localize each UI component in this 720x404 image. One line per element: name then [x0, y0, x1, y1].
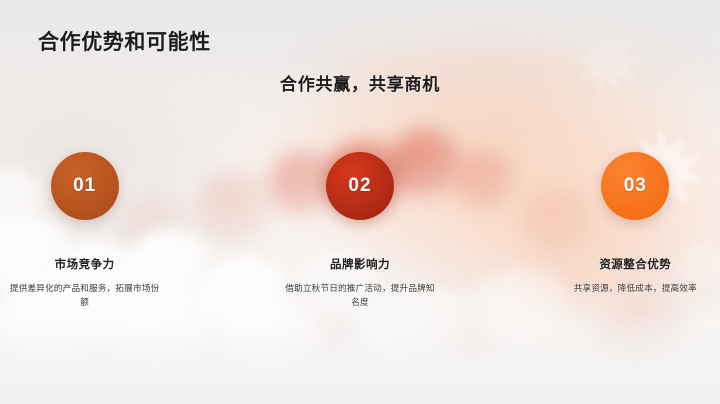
number-badge-3[interactable]: 03	[601, 152, 669, 220]
number-badge-label: 02	[348, 175, 371, 197]
advantage-card-list: 01 市场竞争力 提供差异化的产品和服务，拓展市场份额 02 品牌影响力 借助立…	[0, 152, 720, 309]
slide-canvas: 合作优势和可能性 合作共赢，共享商机 01 市场竞争力 提供差异化的产品和服务，…	[0, 0, 720, 404]
number-badge-label: 03	[624, 175, 647, 197]
card-heading: 资源整合优势	[599, 256, 671, 272]
card-heading: 市场竞争力	[55, 256, 115, 272]
page-title: 合作优势和可能性	[38, 26, 211, 56]
slide-subtitle: 合作共赢，共享商机	[0, 70, 720, 95]
card-description: 借助立秋节日的推广活动，提升品牌知名度	[285, 281, 435, 309]
card-heading: 品牌影响力	[330, 256, 390, 272]
slide-content: 合作优势和可能性 合作共赢，共享商机 01 市场竞争力 提供差异化的产品和服务，…	[0, 0, 720, 404]
card-description: 提供差异化的产品和服务，拓展市场份额	[10, 281, 160, 309]
advantage-card-3[interactable]: 03 资源整合优势 共享资源，降低成本，提高效率	[551, 152, 720, 295]
number-badge-2[interactable]: 02	[326, 152, 394, 220]
card-description: 共享资源，降低成本，提高效率	[574, 281, 697, 295]
number-badge-label: 01	[73, 175, 96, 197]
advantage-card-2[interactable]: 02 品牌影响力 借助立秋节日的推广活动，提升品牌知名度	[275, 152, 444, 309]
number-badge-1[interactable]: 01	[51, 152, 119, 220]
advantage-card-1[interactable]: 01 市场竞争力 提供差异化的产品和服务，拓展市场份额	[0, 152, 169, 309]
